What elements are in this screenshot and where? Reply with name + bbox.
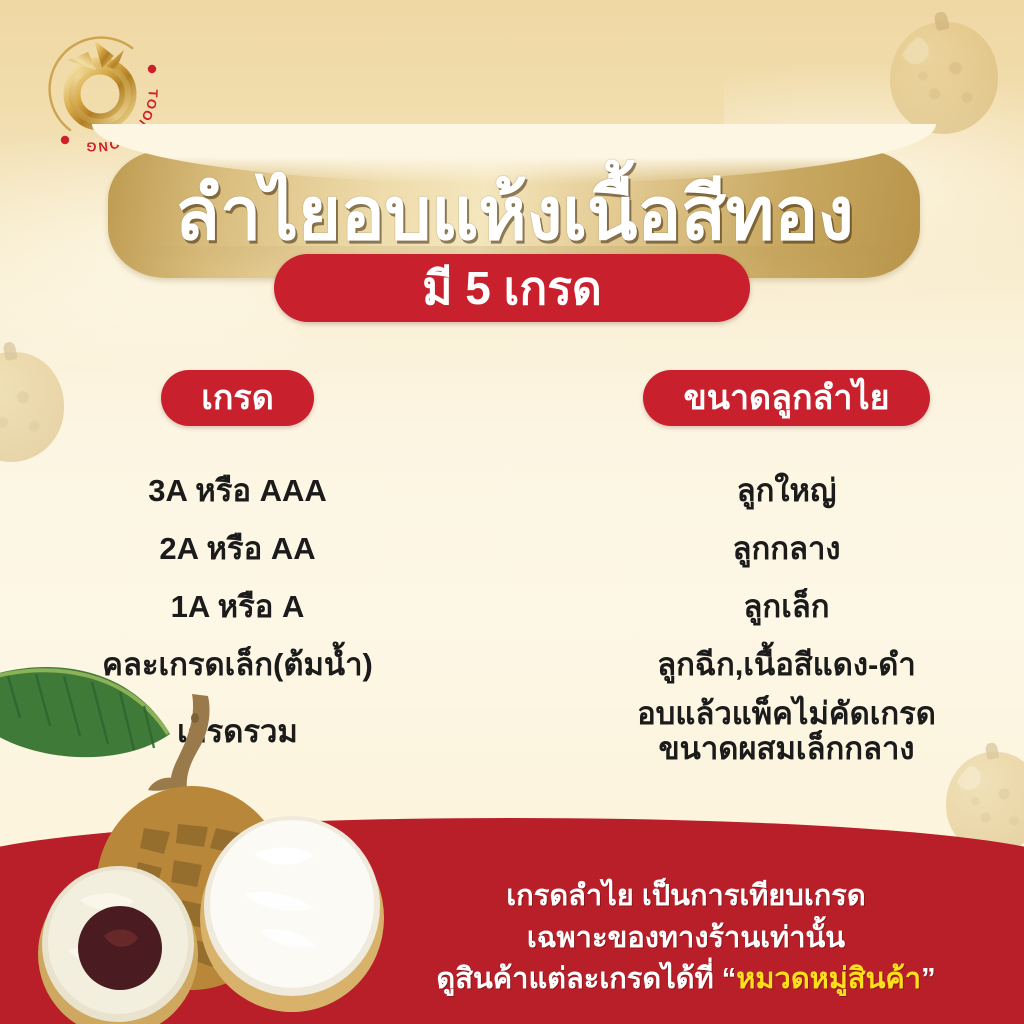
poster-canvas: TOONGTONG ลำไยอบแห้งเนื้อสีทอง มี 5 เกรด… <box>0 0 1024 1024</box>
table-row: อบแล้วแพ็คไม่คัดเกรด ขนาดผสมเล็กกลาง <box>637 694 936 770</box>
quote-open: “ <box>722 963 737 995</box>
size-column: ขนาดลูกลำไย ลูกใหญ่ ลูกกลาง ลูกเล็ก ลูกฉ… <box>527 370 1024 770</box>
column-header-grade: เกรด <box>161 370 314 426</box>
column-header-size: ขนาดลูกลำไย <box>643 370 929 426</box>
footer-highlight-link[interactable]: หมวดหมู่สินค้า <box>736 963 921 995</box>
table-row: ลูกฉีก,เนื้อสีแดง-ดำ <box>657 636 916 694</box>
longan-stem-icon <box>2 341 18 361</box>
table-row: 2A หรือ AA <box>159 520 315 578</box>
longan-watermark-top-right <box>890 22 998 134</box>
footer-line-2: เฉพาะของทางร้านเท่านั้น <box>366 918 1006 959</box>
table-row: ลูกใหญ่ <box>737 462 837 520</box>
footer-note: เกรดลำไย เป็นการเทียบเกรด เฉพาะของทางร้า… <box>366 876 1006 1000</box>
leaf-icon <box>0 667 170 757</box>
longan-stem-icon <box>934 11 950 31</box>
table-row: ลูกเล็ก <box>743 578 829 636</box>
size-rows: ลูกใหญ่ ลูกกลาง ลูกเล็ก ลูกฉีก,เนื้อสีแด… <box>549 462 1024 770</box>
table-row-line2: ขนาดผสมเล็กกลาง <box>658 732 914 767</box>
footer-line-3: ดูสินค้าแต่ละเกรดได้ที่ “หมวดหมู่สินค้า” <box>366 959 1006 1000</box>
stem-icon <box>148 694 210 796</box>
table-row: ลูกกลาง <box>732 520 840 578</box>
quote-close: ” <box>921 963 936 995</box>
longan-illustration <box>0 618 422 1024</box>
footer-line-1: เกรดลำไย เป็นการเทียบเกรด <box>366 876 1006 917</box>
footer-line-3-prefix: ดูสินค้าแต่ละเกรดได้ที่ <box>436 963 721 995</box>
table-row: 3A หรือ AAA <box>148 462 327 520</box>
table-row-line1: อบแล้วแพ็คไม่คัดเกรด <box>637 697 936 732</box>
peeled-longan-right-icon <box>200 816 384 1012</box>
subtitle-badge: มี 5 เกรด <box>274 254 750 322</box>
